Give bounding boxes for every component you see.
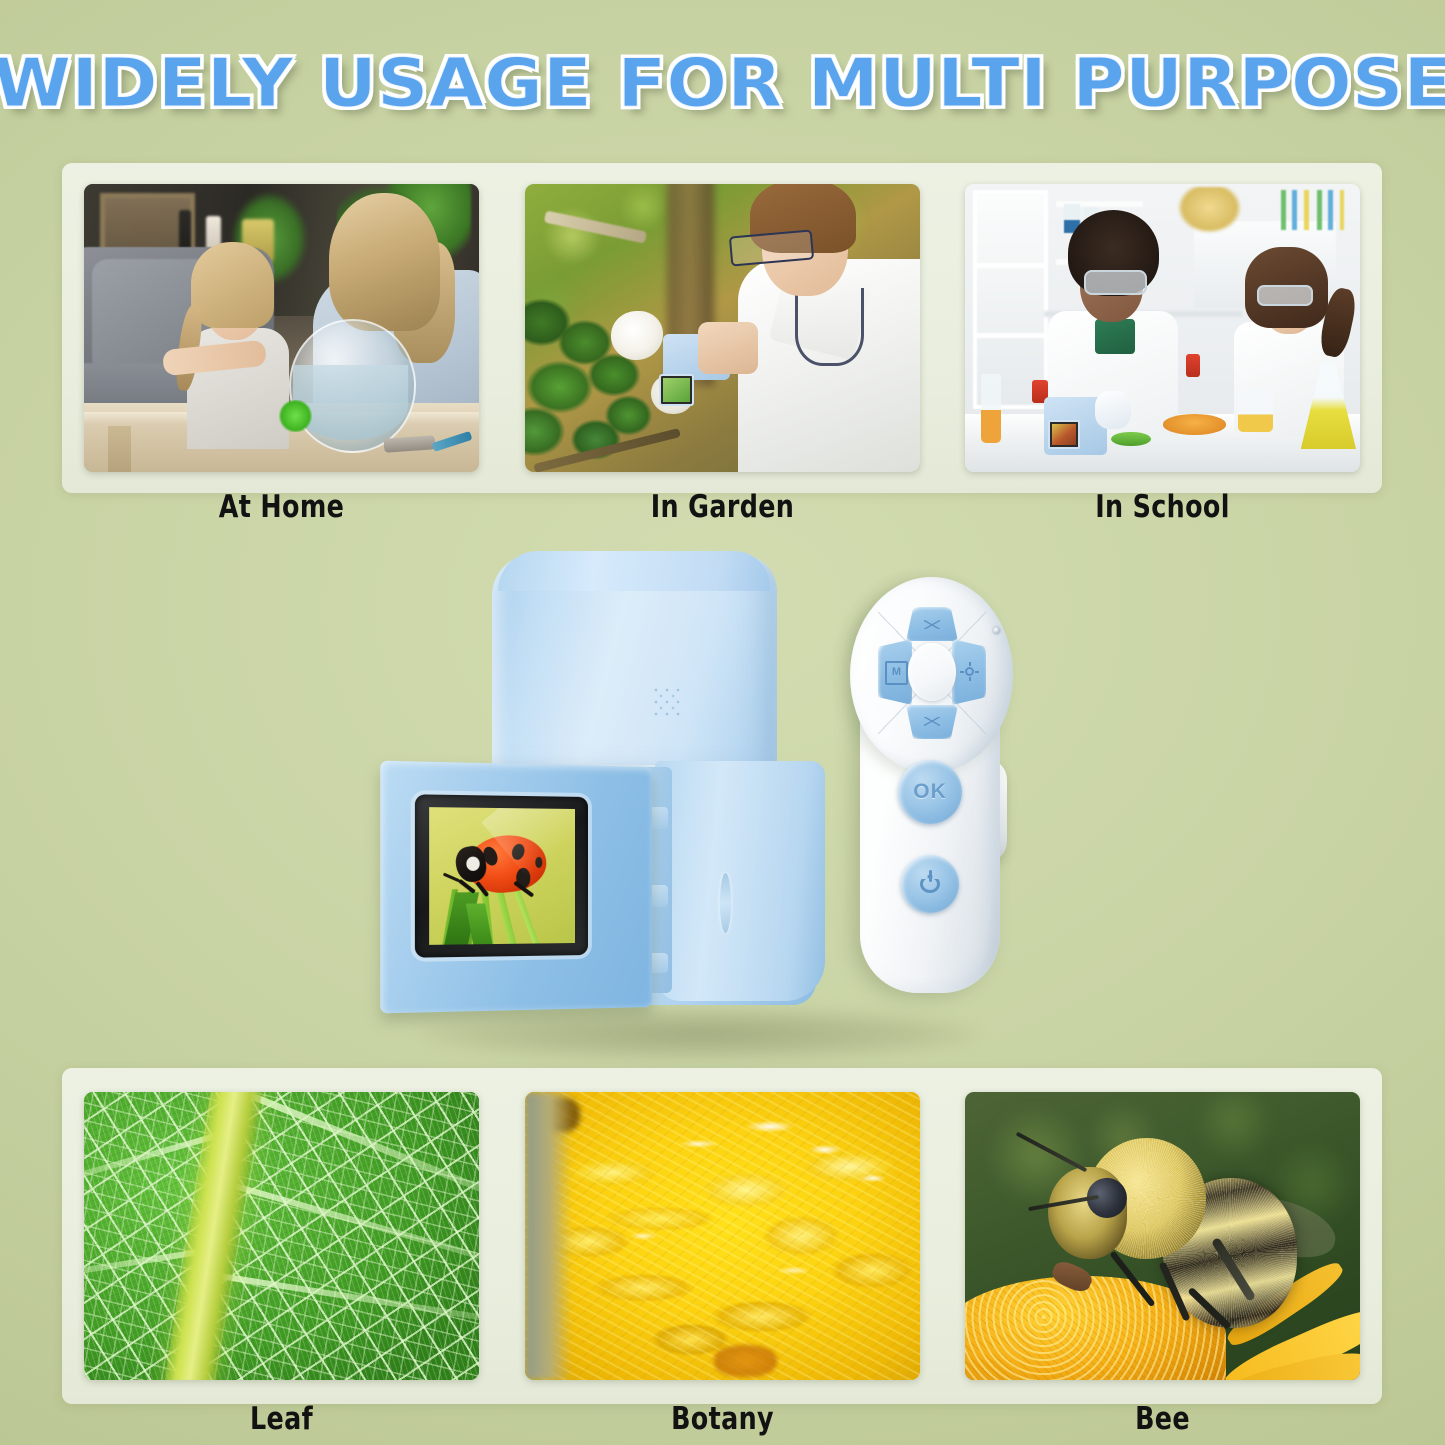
scenario-card-at-home (84, 184, 479, 472)
botany-scene (525, 1092, 920, 1380)
speaker-vent-holes (652, 686, 686, 730)
school-boy-shirt (1095, 319, 1135, 354)
hero-product-microscope: M OK (380, 555, 1100, 1055)
bee-scene (965, 1092, 1360, 1380)
gallery-icon: M (885, 661, 908, 685)
school-boy-goggles (1084, 270, 1147, 294)
caption-leaf: Leaf (120, 1401, 444, 1437)
botany-highlights (525, 1092, 920, 1380)
photo-bee (965, 1092, 1360, 1380)
home-fishbowl-water (293, 365, 408, 440)
product-barrel-top (498, 551, 770, 591)
caption-botany: Botany (560, 1401, 884, 1437)
page-title: WIDELY USAGE FOR MULTI PURPOSE (0, 44, 1445, 122)
school-microscope-handle (1095, 391, 1131, 428)
caption-in-garden: In Garden (560, 489, 884, 525)
ok-button[interactable]: OK (898, 760, 962, 824)
product-feature-poster: WIDELY USAGE FOR MULTI PURPOSE (0, 0, 1445, 1445)
photo-in-school (965, 184, 1360, 472)
garden-boy-hand (698, 322, 757, 374)
sample-images-caption-row: Leaf Botany Bee (62, 1401, 1382, 1437)
school-scene (965, 184, 1360, 472)
photo-botany (525, 1092, 920, 1380)
garden-microscope-screen (659, 374, 695, 406)
school-graduated-cylinder (981, 374, 1001, 443)
scenario-card-in-school (965, 184, 1360, 472)
caption-in-school: In School (1001, 489, 1325, 525)
caption-bee: Bee (1001, 1401, 1325, 1437)
chevron-up-icon (924, 620, 940, 629)
home-table-leg (108, 426, 132, 472)
usage-scenarios-panel (62, 163, 1382, 493)
sample-images-panel (62, 1068, 1382, 1404)
school-green-stand (1111, 432, 1151, 446)
photo-leaf (84, 1092, 479, 1380)
home-scene (84, 184, 479, 472)
brightness-sun-icon (960, 662, 979, 681)
garden-boy-lanyard (795, 288, 864, 366)
leaf-scene (84, 1092, 479, 1380)
usage-scenarios-card-row (62, 163, 1382, 493)
school-beaker (1238, 388, 1274, 431)
sample-card-bee (965, 1092, 1360, 1380)
scenario-card-in-garden (525, 184, 920, 472)
page-title-text: WIDELY USAGE FOR MULTI PURPOSE (0, 44, 1445, 122)
home-mother-hair (329, 193, 440, 331)
botany-background-edge (525, 1092, 572, 1380)
photo-in-garden (525, 184, 920, 472)
product-drop-shadow (420, 1007, 980, 1061)
power-button[interactable] (901, 855, 959, 913)
school-dropper-right (1186, 354, 1200, 377)
sample-images-card-row (62, 1068, 1382, 1404)
home-aquarium-plant (278, 400, 314, 432)
lcd-ladybug-head-marking (466, 857, 479, 871)
garden-white-flower (611, 311, 662, 360)
chevron-down-icon (924, 717, 940, 726)
school-girl-goggles (1257, 285, 1312, 306)
product-grip-notch (720, 873, 731, 933)
school-tube-rack (1281, 190, 1344, 230)
usage-scenarios-caption-row: At Home In Garden In School (62, 489, 1382, 525)
school-petri-dish (1163, 414, 1226, 434)
directional-pad: M (878, 607, 986, 739)
caption-at-home: At Home (120, 489, 444, 525)
power-icon (919, 870, 941, 894)
garden-scene (525, 184, 920, 472)
school-microscope-screen (1048, 420, 1080, 449)
sample-card-botany (525, 1092, 920, 1380)
sample-card-leaf (84, 1092, 479, 1380)
status-led-indicator (993, 627, 1000, 634)
photo-at-home (84, 184, 479, 472)
dpad-center-button[interactable] (908, 643, 956, 701)
lcd-screen (429, 807, 575, 945)
home-girl-hair (191, 242, 274, 328)
product-body-front (655, 761, 825, 1001)
school-anatomy-model (1178, 187, 1241, 233)
